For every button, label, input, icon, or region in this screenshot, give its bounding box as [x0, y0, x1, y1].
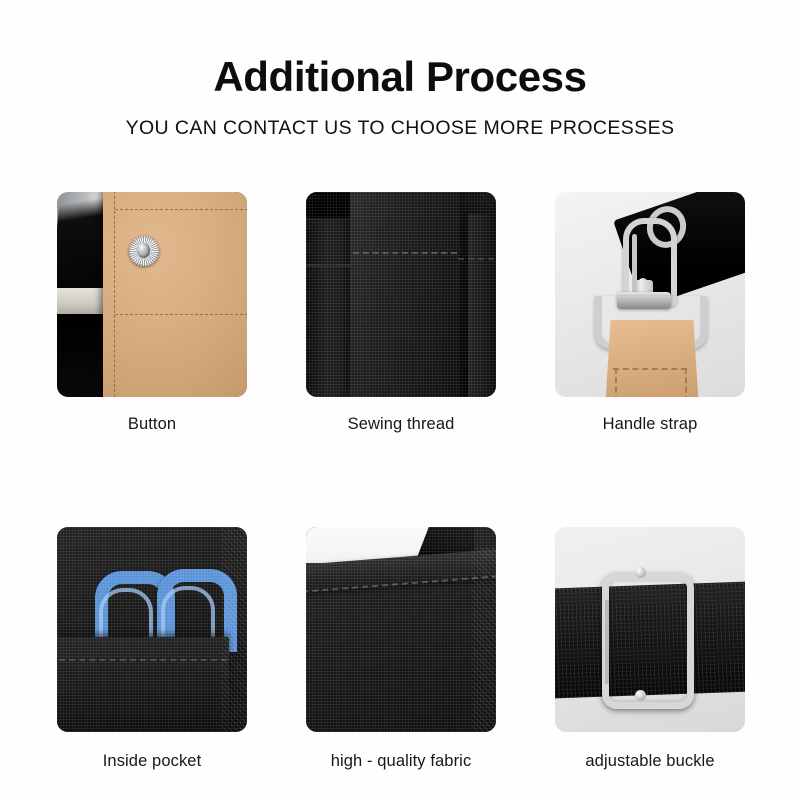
caption-sewing-thread: Sewing thread [306, 397, 496, 434]
leather-stitch-middle [115, 314, 247, 315]
adjustable-buckle-photo[interactable] [555, 527, 745, 732]
grid-item-adjustable-buckle[interactable]: adjustable buckle [555, 527, 745, 771]
fabric-photo[interactable] [306, 527, 496, 732]
page-title: Additional Process [0, 0, 800, 100]
grid-item-fabric[interactable]: high - quality fabric [306, 527, 496, 771]
inside-pocket-photo[interactable] [57, 527, 247, 732]
tab-stitch-top [613, 368, 687, 370]
tab-stitch-right [685, 368, 687, 397]
grid-item-handle-strap[interactable]: Handle strap [555, 192, 745, 434]
weave-texture [306, 527, 496, 732]
slider-buckle-icon [602, 573, 694, 709]
page-subtitle: YOU CAN CONTACT US TO CHOOSE MORE PROCES… [0, 100, 800, 140]
caption-fabric: high - quality fabric [306, 732, 496, 771]
metal-snap-button-icon [129, 236, 159, 266]
handle-strap-photo[interactable] [555, 192, 745, 397]
caption-handle-strap: Handle strap [555, 397, 745, 434]
product-detail-page: Additional Process YOU CAN CONTACT US TO… [0, 0, 800, 800]
weave-texture [57, 527, 247, 732]
sewing-thread-photo[interactable] [306, 192, 496, 397]
buckle-pin-top [635, 567, 646, 578]
leather-stitch-vertical [114, 192, 115, 397]
tan-leather-panel [103, 192, 247, 397]
grid-item-sewing-thread[interactable]: Sewing thread [306, 192, 496, 434]
button-photo[interactable] [57, 192, 247, 397]
caption-button: Button [57, 397, 247, 434]
grid-item-button[interactable]: Button [57, 192, 247, 434]
weave-texture [306, 192, 496, 397]
leather-stitch-top [115, 209, 247, 210]
page-header: Additional Process YOU CAN CONTACT US TO… [0, 0, 800, 140]
process-grid: Button Sewing thread [57, 192, 745, 771]
buckle-pin-bottom [635, 690, 646, 701]
tab-stitch-left [615, 368, 617, 397]
caption-inside-pocket: Inside pocket [57, 732, 247, 771]
grid-item-inside-pocket[interactable]: Inside pocket [57, 527, 247, 771]
caption-adjustable-buckle: adjustable buckle [555, 732, 745, 771]
